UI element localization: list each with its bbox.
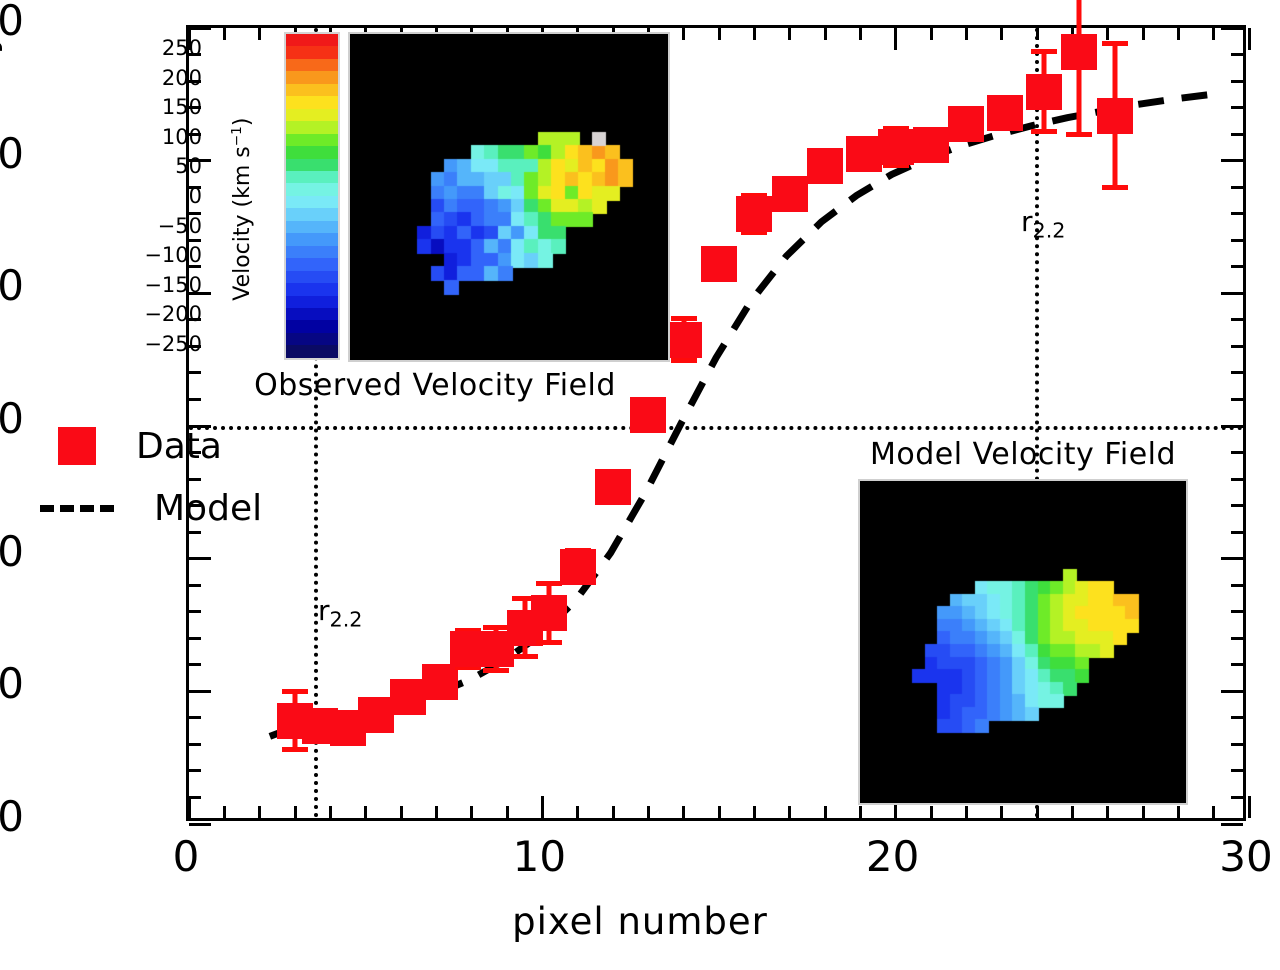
- colorbar-band: [286, 296, 338, 308]
- data-point[interactable]: [422, 664, 458, 700]
- colorbar-band: [286, 233, 338, 245]
- legend-swatch-data: [58, 427, 96, 465]
- error-bar-cap: [671, 358, 697, 363]
- colorbar-tick-label: 250: [82, 36, 202, 60]
- data-point[interactable]: [987, 95, 1023, 131]
- legend: Data Model: [40, 415, 262, 539]
- colorbar-band: [286, 146, 338, 158]
- colorbar-band: [286, 196, 338, 208]
- legend-dash-model: [40, 505, 114, 512]
- data-point[interactable]: [1061, 34, 1097, 70]
- x-tick-label: 30: [1166, 832, 1280, 881]
- error-bar-cap: [282, 689, 308, 694]
- colorbar-band: [286, 46, 338, 58]
- colorbar-band: [286, 121, 338, 133]
- inset-model-velocity-field: Model Velocity Field: [858, 437, 1188, 807]
- error-bar-cap: [536, 581, 562, 586]
- y-tick-label: −300: [0, 796, 24, 838]
- legend-label-data: Data: [136, 426, 222, 467]
- error-bar-cap: [1066, 132, 1092, 137]
- colorbar-tick-label: −150: [82, 273, 202, 297]
- model-velocity-field-image: [858, 479, 1188, 805]
- data-point[interactable]: [1026, 74, 1062, 110]
- colorbar: [284, 32, 340, 360]
- observed-velocity-field-image: [348, 32, 670, 362]
- data-point[interactable]: [358, 697, 394, 733]
- colorbar-band: [286, 109, 338, 121]
- colorbar-title: Velocity (km s−1): [229, 59, 255, 359]
- colorbar-band: [286, 84, 338, 96]
- y-tick-label: −100: [0, 531, 24, 573]
- error-bar-cap: [1031, 49, 1057, 54]
- error-bar-cap: [483, 625, 509, 630]
- colorbar-band: [286, 171, 338, 183]
- r22-label-left: r2.2: [318, 594, 362, 632]
- data-point[interactable]: [736, 196, 772, 232]
- colorbar-band: [286, 34, 338, 46]
- colorbar-band: [286, 246, 338, 258]
- legend-item-data: Data: [40, 415, 262, 477]
- inset-model-title: Model Velocity Field: [858, 437, 1188, 472]
- data-point[interactable]: [390, 679, 426, 715]
- colorbar-band: [286, 71, 338, 83]
- colorbar-band: [286, 333, 338, 345]
- colorbar-group: Velocity (km s−1) 250200150100500−50−100…: [200, 32, 350, 364]
- x-axis-title: pixel number: [0, 900, 1280, 943]
- data-point[interactable]: [666, 322, 702, 358]
- colorbar-tick-label: 100: [82, 125, 202, 149]
- data-point[interactable]: [772, 176, 808, 212]
- data-point[interactable]: [913, 127, 949, 163]
- x-tick-label: 20: [813, 832, 973, 881]
- colorbar-tick-label: 0: [82, 184, 202, 208]
- colorbar-band: [286, 320, 338, 332]
- error-bar-cap: [512, 654, 538, 659]
- colorbar-tick-label: −100: [82, 243, 202, 267]
- colorbar-tick-label: −200: [82, 302, 202, 326]
- colorbar-band: [286, 345, 338, 357]
- colorbar-band: [286, 221, 338, 233]
- colorbar-band: [286, 134, 338, 146]
- error-bar-cap: [1031, 129, 1057, 134]
- y-tick-right: [1221, 823, 1243, 826]
- data-point[interactable]: [560, 549, 596, 585]
- y-tick-label: 100: [0, 265, 24, 307]
- colorbar-band: [286, 308, 338, 320]
- y-tick-label: −200: [0, 663, 24, 705]
- data-point[interactable]: [531, 595, 567, 631]
- data-point[interactable]: [1097, 98, 1133, 134]
- data-point[interactable]: [595, 469, 631, 505]
- legend-item-model: Model: [40, 477, 262, 539]
- error-bar-cap: [282, 747, 308, 752]
- y-tick-label: 200: [0, 133, 24, 175]
- error-bar-cap: [536, 640, 562, 645]
- y-tick-label: 0: [0, 398, 24, 440]
- figure-root: Velocity (km s−1) pixel number −300−200−…: [0, 0, 1280, 970]
- inset-observed-velocity-field: Velocity (km s−1) 250200150100500−50−100…: [200, 28, 670, 398]
- y-tick: [189, 823, 211, 826]
- colorbar-band: [286, 258, 338, 270]
- data-point[interactable]: [948, 106, 984, 142]
- colorbar-band: [286, 96, 338, 108]
- inset-observed-title: Observed Velocity Field: [200, 368, 670, 403]
- x-tick: [1248, 796, 1251, 818]
- y-tick-label: 300: [0, 0, 24, 42]
- colorbar-band: [286, 59, 338, 71]
- colorbar-tick-label: 150: [82, 95, 202, 119]
- data-point[interactable]: [846, 136, 882, 172]
- r22-label-right: r2.2: [1021, 205, 1065, 243]
- colorbar-band: [286, 271, 338, 283]
- colorbar-tick-label: −250: [82, 332, 202, 356]
- error-bar-cap: [671, 316, 697, 321]
- data-point[interactable]: [807, 148, 843, 184]
- x-tick-label: 0: [106, 832, 266, 881]
- colorbar-band: [286, 208, 338, 220]
- legend-label-model: Model: [154, 488, 262, 529]
- data-point[interactable]: [878, 129, 914, 165]
- colorbar-tick-label: −50: [82, 214, 202, 238]
- colorbar-band: [286, 283, 338, 295]
- x-tick-top: [1248, 28, 1251, 50]
- error-bar-cap: [1102, 41, 1128, 46]
- colorbar-band: [286, 159, 338, 171]
- x-tick-label: 10: [459, 832, 619, 881]
- colorbar-band: [286, 183, 338, 195]
- error-bar-cap: [1102, 185, 1128, 190]
- colorbar-tick-label: 50: [82, 154, 202, 178]
- colorbar-tick-label: 200: [82, 66, 202, 90]
- error-bar-cap: [483, 668, 509, 673]
- data-point[interactable]: [701, 246, 737, 282]
